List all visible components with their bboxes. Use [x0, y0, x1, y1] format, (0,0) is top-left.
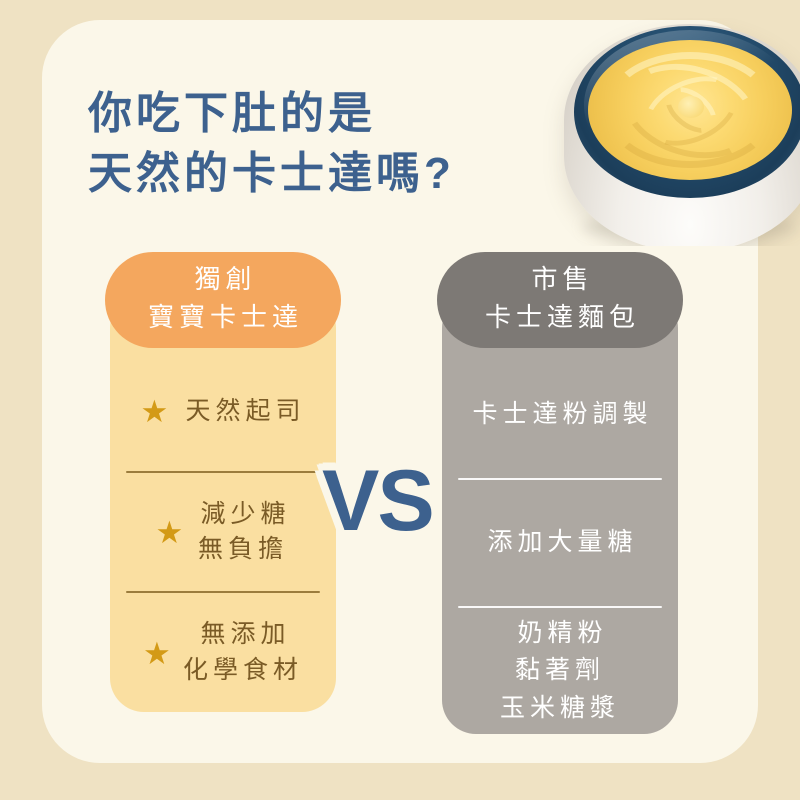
versus-badge: VS	[322, 458, 433, 544]
own-product-item-3: ★ 無添加 化學食材	[110, 593, 336, 712]
page-title-line-2: 天然的卡士達嗎?	[88, 144, 455, 204]
market-product-item-1: 卡士達粉調製	[442, 352, 678, 478]
market-product-item-2-line-1: 添加大量糖	[487, 528, 637, 556]
own-product-divider-1	[126, 471, 320, 473]
market-product-divider-1	[458, 478, 662, 480]
market-product-header-line-2: 卡士達麵包	[480, 299, 640, 337]
star-icon: ★	[143, 638, 173, 668]
own-product-header: 獨創 寶寶卡士達	[105, 252, 341, 348]
star-icon: ★	[140, 396, 170, 426]
own-product-item-1: ★ 天然起司	[110, 352, 336, 471]
own-product-item-1-label: 天然起司	[180, 394, 305, 430]
market-product-item-2: 添加大量糖	[442, 480, 678, 606]
market-product-item-3-label: 奶精粉 黏著劑 玉米糖漿	[500, 615, 620, 728]
page-title-line-1: 你吃下肚的是	[88, 84, 455, 144]
own-product-item-2: ★ 減少糖 無負擔	[110, 473, 336, 592]
market-product-item-3-line-3: 玉米糖漿	[500, 694, 620, 722]
market-product-header-line-1: 市售	[526, 261, 593, 299]
star-icon: ★	[155, 517, 185, 547]
own-product-item-2-label: 減少糖 無負擔	[195, 497, 290, 568]
market-product-item-3: 奶精粉 黏著劑 玉米糖漿	[442, 608, 678, 734]
market-product-item-1-line-1: 卡士達粉調製	[472, 400, 652, 428]
market-product-item-1-label: 卡士達粉調製	[467, 396, 652, 434]
own-product-item-3-line-1: 無添加	[200, 620, 290, 648]
own-product-item-2-line-2: 無負擔	[198, 535, 288, 563]
own-product-item-3-label: 無添加 化學食材	[183, 617, 303, 688]
own-product-item-2-line-1: 減少糖	[200, 500, 290, 528]
page-title: 你吃下肚的是 天然的卡士達嗎?	[88, 84, 455, 204]
market-product-header: 市售 卡士達麵包	[437, 252, 683, 348]
market-product-item-3-line-2: 黏著劑	[515, 656, 605, 684]
market-product-divider-2	[458, 606, 662, 608]
own-product-header-line-2: 寶寶卡士達	[143, 299, 303, 337]
own-product-item-3-line-2: 化學食材	[183, 656, 303, 684]
market-product-item-2-label: 添加大量糖	[482, 524, 637, 562]
own-product-item-1-line-1: 天然起司	[185, 397, 305, 425]
own-product-body: ★ 天然起司 ★ 減少糖 無負擔 ★ 無添加 化學食材	[110, 294, 336, 712]
market-product-body: 卡士達粉調製 添加大量糖 奶精粉 黏著劑 玉米糖漿	[442, 294, 678, 734]
own-product-header-line-1: 獨創	[189, 261, 256, 299]
market-product-item-3-line-1: 奶精粉	[517, 619, 607, 647]
